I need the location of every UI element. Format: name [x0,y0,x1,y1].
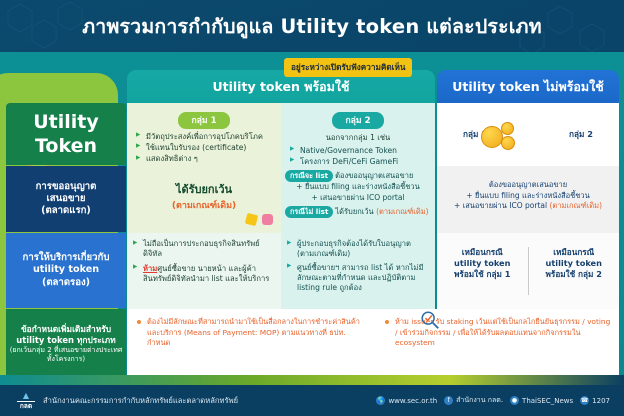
list-item: ห้ามศูนย์ซื้อขาย นายหน้า และผู้ค้าสินทรั… [133,264,275,285]
row-label-service-text: การให้บริการเกี่ยวกับ utility token (ตลา… [23,252,110,289]
list-item: ต้องไม่มีลักษณะที่สามารถนำมาใช้เป็นสื่อก… [137,317,363,349]
cell-ready-group2-definition: กลุ่ม 2 นอกจากกลุ่ม 1 เช่น Native/Govern… [281,103,435,166]
service-line2: utility token [33,264,99,275]
list-item: แสดงสิทธิต่าง ๆ [136,154,275,164]
row-label-offering-text: การขออนุญาต เสนอขาย (ตลาดแรก) [36,181,97,218]
extra-requirement-mop: ต้องไม่มีลักษณะที่สามารถนำมาใช้เป็นสื่อก… [127,309,371,379]
tab-ready-label: Utility token พร้อมใช้ [212,77,349,97]
phone-icon: ☎ [580,396,589,405]
row-label-offering: การขออนุญาต เสนอขาย (ตลาดแรก) [6,166,126,232]
ready-group2-case-nolist: กรณีไม่ listได้รับยกเว้น (ตามเกณฑ์เดิม) [285,206,431,218]
row-label-extra-requirements: ข้อกำหนดเพิ่มเติมสำหรับ utility token ทุ… [6,309,126,379]
row-label-utility-token: Utility Token [6,103,126,165]
case-list-line1: ต้องขออนุญาตเสนอขาย [335,171,413,180]
sec-logo: ▲ กลต [16,392,36,410]
tab-not-ready-label: Utility token ไม่พร้อมใช้ [452,77,604,97]
footer-twitter-label: ThaiSEC_News [522,397,573,405]
footer-phone-label: 1207 [592,397,610,405]
cell-ready-group2-service: ผู้ประกอบธุรกิจต้องได้รับใบอนุญาต (ตามเก… [281,233,435,309]
ban-keyword: ห้าม [143,264,157,273]
cell-not-ready-service: เหมือนกรณี utility token พร้อมใช้ กลุ่ม … [437,233,619,309]
not-ready-offering-line3-text: + เสนอขายผ่าน ICO portal [454,201,547,210]
header-title-bar: ภาพรวมการกำกับดูแล Utility token แต่ละปร… [0,0,624,52]
list-item: มีวัตถุประสงค์เพื่อการอุปโภคบริโภค [136,132,275,142]
ng2-line1: เหมือนกรณี [529,247,620,258]
not-ready-offering-note: (ตามเกณฑ์เดิม) [549,201,602,210]
offering-line2: เสนอขาย [46,193,85,204]
case-list-line2: + ยื่นแบบ filing และร่างหนังสือชี้ชวน [285,182,431,193]
magnifier-icon [419,309,441,331]
tab-utility-token-not-ready[interactable]: Utility token ไม่พร้อมใช้ [437,70,619,103]
cell-extra-requirements: ต้องไม่มีลักษณะที่สามารถนำมาใช้เป็นสื่อก… [127,309,619,379]
ready-group1-offering-main: ได้รับยกเว้น [133,180,275,198]
pill-ready-group2: กลุ่ม 2 [332,112,383,129]
not-ready-service-group1: เหมือนกรณี utility token พร้อมใช้ กลุ่ม … [437,233,528,309]
ready-group1-service-rest: ศูนย์ซื้อขาย นายหน้า และผู้ค้าสินทรัพย์ด… [143,264,269,283]
service-line3: (ตลาดรอง) [42,277,90,288]
footer-bar: ▲ กลต สำนักงานคณะกรรมการกำกับหลักทรัพย์แ… [0,385,624,416]
footer-link-phone[interactable]: ☎ 1207 [580,396,610,405]
vertical-divider [528,233,529,309]
star-sticker-icon [245,213,258,226]
footer-facebook-label: สำนักงาน กลต. [456,395,503,406]
not-ready-offering-line3: + เสนอขายผ่าน ICO portal (ตามเกณฑ์เดิม) [443,201,613,212]
cell-ready-group2-offering: กรณีจะ listต้องขออนุญาตเสนอขาย + ยื่นแบบ… [281,166,435,233]
cell-not-ready-offering: ต้องขออนุญาตเสนอขาย + ยื่นแบบ filing และ… [437,166,619,233]
extra-requirement-staking: ห้าม issuer รับ staking เว้นแต่ใช้เป็นกล… [371,309,619,379]
case-nolist-note: (ตามเกณฑ์เดิม) [376,207,429,216]
extra-sub: (ยกเว้นกลุ่ม 2 ที่เสนอขายต่างประเทศทั้งโ… [6,346,126,364]
list-item: ศูนย์ซื้อขายฯ สามารถ list ได้ หากไม่มีลั… [287,263,429,294]
list-item: โครงการ DeFi/CeFi GameFi [290,157,429,166]
cell-ready-group1-offering: ได้รับยกเว้น (ตามเกณฑ์เดิม) [127,166,281,233]
heart-sticker-icon [262,214,273,225]
ready-group2-subtitle: นอกจากกลุ่ม 1 เช่น [287,132,429,144]
row-label-extra-text: ข้อกำหนดเพิ่มเติมสำหรับ utility token ทุ… [6,324,126,363]
not-ready-service-group2: เหมือนกรณี utility token พร้อมใช้ กลุ่ม … [529,233,620,309]
page-title: ภาพรวมการกำกับดูแล Utility token แต่ละปร… [82,11,542,42]
offering-line1: การขออนุญาต [36,181,97,192]
globe-icon: 🌎 [376,396,385,405]
case-nolist-text: ได้รับยกเว้น [335,207,373,216]
extra-line1: ข้อกำหนดเพิ่มเติมสำหรับ [21,324,111,334]
pill-ready-group1: กลุ่ม 1 [178,112,229,129]
extra-line2: utility token ทุกประเภท [16,335,115,345]
footer-organization-name: สำนักงานคณะกรรมการกำกับหลักทรัพย์และตลาด… [43,395,238,407]
footer-swoosh-decoration [0,375,624,385]
ng2-line2: utility token [529,258,620,269]
ng1-line1: เหมือนกรณี [437,247,528,258]
sec-logo-text: กลต [20,403,32,410]
ready-group1-bullet-list: มีวัตถุประสงค์เพื่อการอุปโภคบริโภค ใช้แท… [133,132,275,165]
facebook-icon: f [444,396,453,405]
offering-line3: (ตลาดแรก) [41,205,91,216]
ready-group2-case-list: กรณีจะ listต้องขออนุญาตเสนอขาย [285,170,431,182]
ng1-line3: พร้อมใช้ กลุ่ม 1 [437,269,528,280]
row-label-utility-token-text: Utility Token [6,110,126,159]
list-item: ไม่ถือเป็นการประกอบธุรกิจสินทรัพย์ดิจิทั… [133,239,275,260]
list-item: ใช้แทนใบรับรอง (certificate) [136,143,275,153]
list-item: Native/Governance Token [290,146,429,156]
chip-case-list: กรณีจะ list [285,170,333,182]
footer-link-twitter[interactable]: ● ThaiSEC_News [510,396,573,405]
cell-ready-group1-service: ไม่ถือเป็นการประกอบธุรกิจสินทรัพย์ดิจิทั… [127,233,281,309]
ng2-line3: พร้อมใช้ กลุ่ม 2 [529,269,620,280]
footer-links: 🌎 www.sec.or.th f สำนักงาน กลต. ● ThaiSE… [376,395,610,406]
ready-group2-bullet-list: Native/Governance Token โครงการ DeFi/CeF… [287,146,429,167]
chip-case-no-list: กรณีไม่ list [285,206,333,218]
cell-not-ready-groups-header: กลุ่ม 1 กลุ่ม 2 [437,103,619,166]
infographic-page: ภาพรวมการกำกับดูแล Utility token แต่ละปร… [0,0,624,416]
list-item: ผู้ประกอบธุรกิจต้องได้รับใบอนุญาต (ตามเก… [287,239,429,260]
twitter-icon: ● [510,396,519,405]
row-label-service: การให้บริการเกี่ยวกับ utility token (ตลา… [6,233,126,308]
footer-link-facebook[interactable]: f สำนักงาน กลต. [444,395,503,406]
public-hearing-badge: อยู่ระหว่างเปิดรับฟังความคิดเห็น [284,58,412,77]
service-line1: การให้บริการเกี่ยวกับ [23,252,110,263]
footer-website-label: www.sec.or.th [388,397,437,405]
case-list-line3: + เสนอขายผ่าน ICO portal [285,193,431,204]
not-ready-offering-line1: ต้องขออนุญาตเสนอขาย [443,180,613,191]
cell-ready-group1-definition: กลุ่ม 1 มีวัตถุประสงค์เพื่อการอุปโภคบริโ… [127,103,281,166]
not-ready-group2-label: กลุ่ม 2 [569,129,593,140]
footer-link-website[interactable]: 🌎 www.sec.or.th [376,396,437,405]
ng1-line2: utility token [437,258,528,269]
not-ready-offering-line2: + ยื่นแบบ filing และร่างหนังสือชี้ชวน [443,191,613,202]
